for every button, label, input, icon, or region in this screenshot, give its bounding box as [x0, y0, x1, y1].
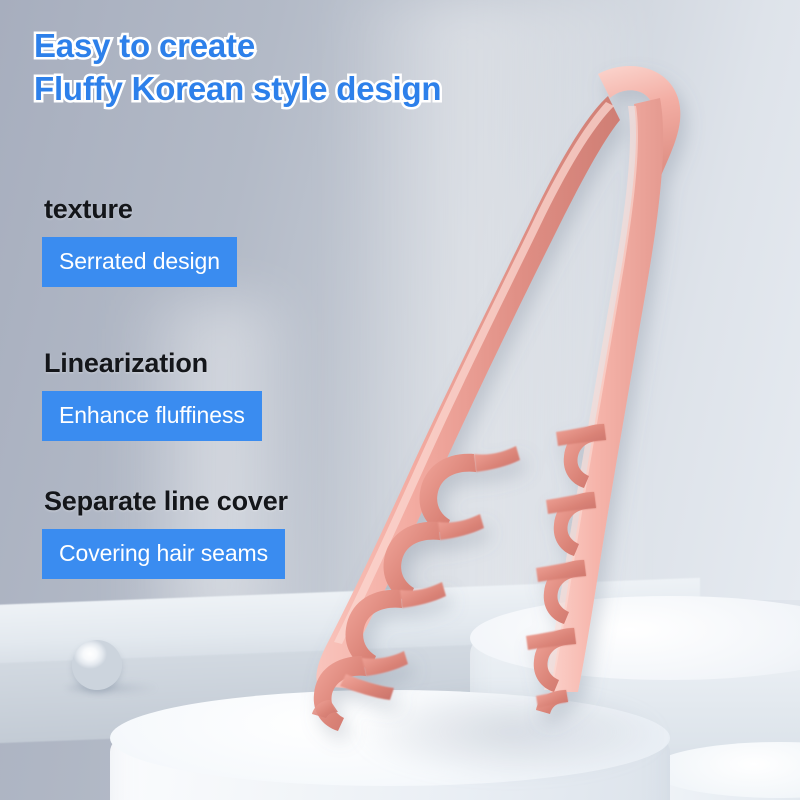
product-banner: Easy to create Fluffy Korean style desig… — [0, 0, 800, 800]
feature-title: Linearization — [44, 348, 262, 379]
feature-badge[interactable]: Enhance fluffiness — [42, 391, 262, 441]
headline-line-1: Easy to create — [34, 27, 255, 64]
headline: Easy to create Fluffy Korean style desig… — [34, 24, 441, 110]
feature-title: texture — [44, 194, 237, 225]
feature-block-separate-line-cover: Separate line cover Covering hair seams — [42, 486, 288, 579]
headline-line-2: Fluffy Korean style design — [34, 67, 441, 110]
feature-block-texture: texture Serrated design — [42, 194, 237, 287]
clip-body — [312, 66, 680, 731]
feature-badge[interactable]: Covering hair seams — [42, 529, 285, 579]
feature-block-linearization: Linearization Enhance fluffiness — [42, 348, 262, 441]
feature-title: Separate line cover — [44, 486, 288, 517]
feature-badge[interactable]: Serrated design — [42, 237, 237, 287]
